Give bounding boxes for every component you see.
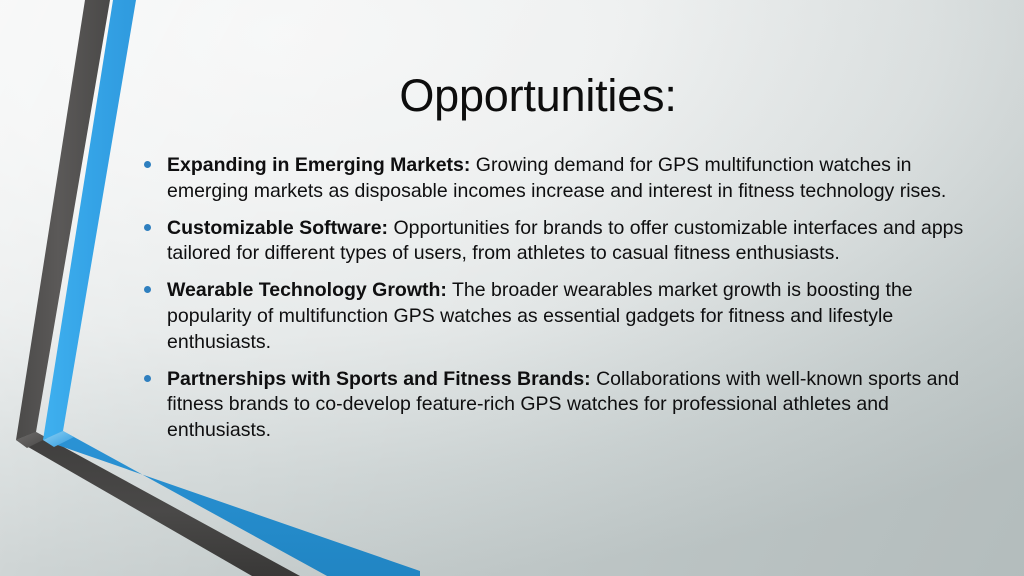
bullet-dot-icon — [144, 224, 151, 231]
list-item: Customizable Software: Opportunities for… — [141, 216, 987, 268]
bullet-lead: Expanding in Emerging Markets: — [167, 154, 470, 176]
page-title: Opportunities: — [0, 72, 1024, 119]
bullet-dot-icon — [144, 375, 151, 382]
bullet-lead: Customizable Software: — [167, 217, 388, 239]
list-item: Expanding in Emerging Markets: Growing d… — [141, 153, 987, 205]
bullet-lead: Wearable Technology Growth: — [167, 279, 447, 301]
list-item: Partnerships with Sports and Fitness Bra… — [141, 367, 987, 444]
bullet-dot-icon — [144, 161, 151, 168]
bullet-lead: Partnerships with Sports and Fitness Bra… — [167, 368, 591, 390]
list-item: Wearable Technology Growth: The broader … — [141, 278, 987, 355]
bullet-list: Expanding in Emerging Markets: Growing d… — [141, 153, 987, 444]
presentation-slide: Opportunities: Expanding in Emerging Mar… — [0, 0, 1024, 576]
bullet-dot-icon — [144, 286, 151, 293]
